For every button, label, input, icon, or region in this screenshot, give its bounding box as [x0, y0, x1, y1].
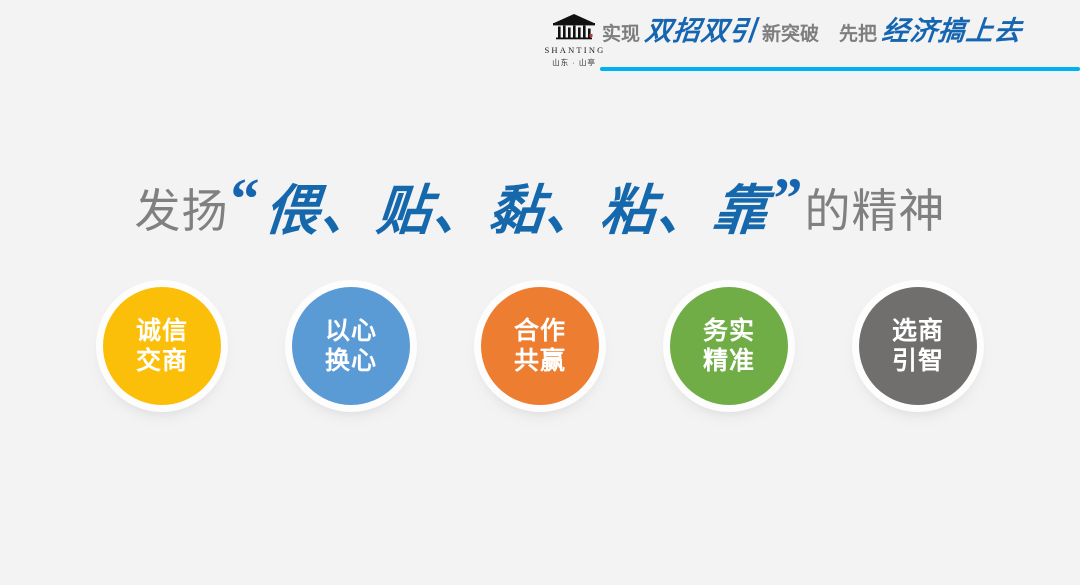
title-suffix: 的精神	[805, 188, 946, 234]
circle-white-ring: 合作共赢	[474, 280, 606, 412]
circle-label-line1: 诚信	[136, 316, 188, 346]
circle-label-line1: 以心	[325, 316, 377, 346]
header-banner: SHANTING 山东 · 山亭 实现 双招双引 新突破 先把 经济搞上去	[520, 0, 1080, 88]
circle-face[interactable]: 务实精准	[670, 287, 788, 405]
circle-white-ring: 选商引智	[852, 280, 984, 412]
page-title: 发扬 “ 偎、贴、黏、粘、靠 ” 的精神	[0, 163, 1080, 259]
slogan-part1-tail: 新突破	[762, 25, 819, 44]
circle-integrity[interactable]: 诚信交商	[96, 280, 228, 416]
logo-name-cn: 山东 · 山亭	[536, 58, 612, 67]
title-prefix: 发扬	[135, 188, 229, 234]
slogan-part1-prefix: 实现	[602, 25, 640, 44]
title-quoted-keywords: 偎、贴、黏、粘、靠	[259, 184, 774, 238]
circle-face[interactable]: 选商引智	[859, 287, 977, 405]
circle-label-line1: 选商	[892, 316, 944, 346]
slogan-part1-accent: 双招双引	[639, 18, 764, 45]
circle-pragmatic[interactable]: 务实精准	[663, 280, 795, 416]
circle-white-ring: 务实精准	[663, 280, 795, 412]
circle-label-line1: 务实	[703, 316, 755, 346]
logo-name-latin: SHANTING	[536, 45, 612, 55]
circle-face[interactable]: 合作共赢	[481, 287, 599, 405]
pavilion-logo-icon	[548, 13, 600, 43]
circle-label-line2: 交商	[136, 346, 188, 376]
circle-label-line2: 精准	[703, 346, 755, 376]
circle-investment[interactable]: 选商引智	[852, 280, 984, 416]
header-accent-rule	[600, 67, 1080, 71]
circle-face[interactable]: 诚信交商	[103, 287, 221, 405]
header-slogan: 实现 双招双引 新突破 先把 经济搞上去	[602, 18, 1080, 60]
circle-white-ring: 诚信交商	[96, 280, 228, 412]
title-quote-close: ”	[772, 170, 805, 228]
slogan-part2-prefix: 先把	[839, 25, 877, 44]
circle-label-line2: 换心	[325, 346, 377, 376]
circle-label-line2: 共赢	[514, 346, 566, 376]
circle-face[interactable]: 以心换心	[292, 287, 410, 405]
circle-white-ring: 以心换心	[285, 280, 417, 412]
value-circle-row: 诚信交商以心换心合作共赢务实精准选商引智	[0, 280, 1080, 425]
slide-canvas: SHANTING 山东 · 山亭 实现 双招双引 新突破 先把 经济搞上去 发扬…	[0, 0, 1080, 585]
circle-label-line2: 引智	[892, 346, 944, 376]
slogan-part2-accent: 经济搞上去	[876, 18, 1029, 45]
circle-label-line1: 合作	[514, 316, 566, 346]
circle-heart[interactable]: 以心换心	[285, 280, 417, 416]
circle-cooperation[interactable]: 合作共赢	[474, 280, 606, 416]
title-quote-open: “	[229, 170, 262, 228]
